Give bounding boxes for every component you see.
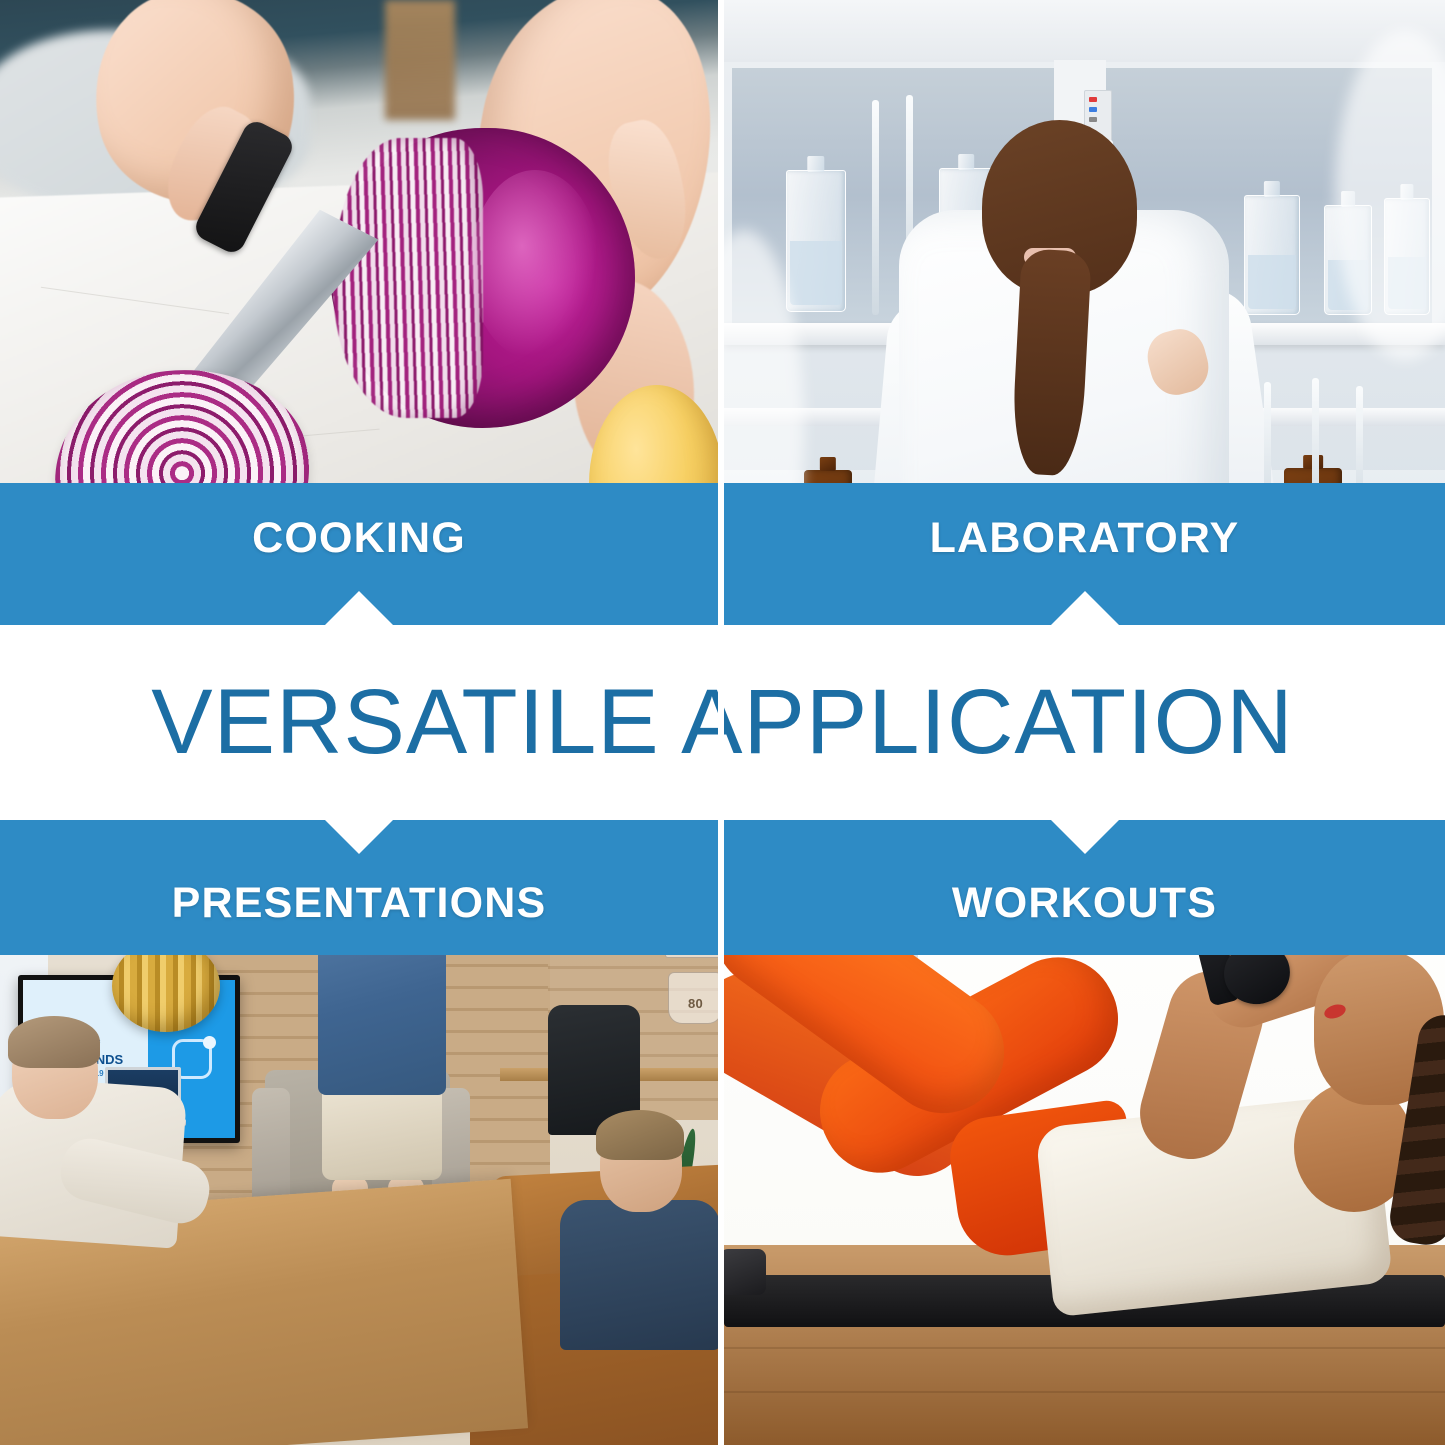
label-band-cooking: COOKING <box>0 483 718 625</box>
logo-dot-icon <box>203 1036 216 1049</box>
bottle-liquid <box>1248 255 1296 309</box>
seated-woman-hair <box>8 1016 100 1068</box>
wall-graphic-label: 80 <box>688 996 703 1011</box>
label-cooking: COOKING <box>252 514 466 563</box>
seated-man-shirt <box>560 1200 718 1350</box>
notch-down-icon <box>1051 820 1119 854</box>
led-red <box>1089 97 1097 102</box>
reagent-bottle <box>1244 195 1300 315</box>
glass-column <box>872 100 879 315</box>
label-band-workouts: WORKOUTS <box>724 820 1445 955</box>
label-presentations: PRESENTATIONS <box>172 879 547 928</box>
label-band-presentations: PRESENTATIONS <box>0 820 718 955</box>
column-gutter <box>718 0 724 1445</box>
label-band-laboratory: LABORATORY <box>724 483 1445 625</box>
notch-up-icon <box>325 591 393 625</box>
reagent-bottle <box>786 170 846 312</box>
label-workouts: WORKOUTS <box>952 879 1217 928</box>
led-blue <box>1089 107 1097 112</box>
seated-man-hair <box>596 1110 684 1160</box>
led-grey <box>1089 117 1097 122</box>
floor-plank-line <box>724 1391 1445 1393</box>
presenter-shorts <box>322 1088 442 1180</box>
notch-down-icon <box>325 820 393 854</box>
dumbbell <box>724 1249 766 1295</box>
cabbage-cut-face <box>333 138 483 418</box>
wood-surface <box>385 0 455 120</box>
notch-up-icon <box>1051 591 1119 625</box>
bottle-liquid <box>790 241 841 305</box>
lab-ceiling <box>724 0 1445 62</box>
versatile-application-infographic: Proof ALL HANDS 4/24/2019 <box>0 0 1445 1445</box>
floor-plank-line <box>724 1347 1445 1349</box>
cabbage-highlight <box>470 170 600 360</box>
label-laboratory: LABORATORY <box>930 514 1240 563</box>
